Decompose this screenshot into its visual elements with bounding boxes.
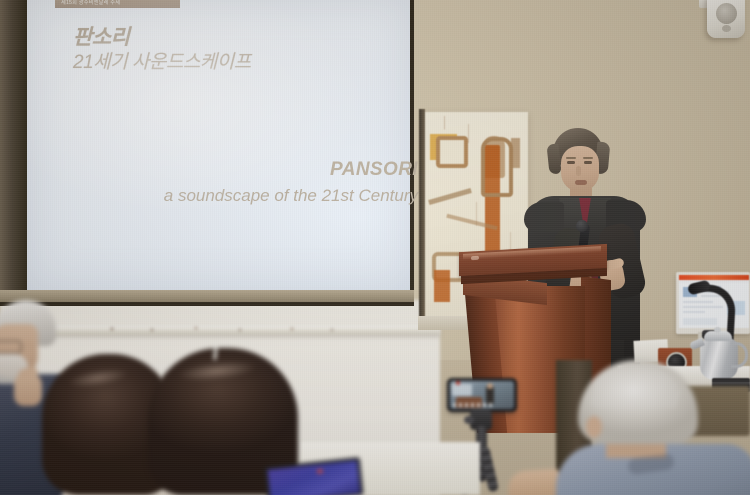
projection-screen: 제15회 광주비엔날레 주제 판소리 21세기 사운드스케이프 PANSORI … (26, 0, 410, 292)
slide-banner-label: 제15회 광주비엔날레 주제 (55, 0, 120, 6)
slide-banner: 제15회 광주비엔날레 주제 (55, 0, 180, 8)
smartphone-screen (450, 381, 514, 409)
speaker-tweeter (722, 25, 731, 32)
presenter-brow-left (566, 157, 576, 159)
projection-screen-frame: 제15회 광주비엔날레 주제 판소리 21세기 사운드스케이프 PANSORI … (0, 0, 414, 306)
monitor-subheader (679, 280, 749, 283)
screen-left-edge (0, 0, 27, 302)
audience-fg-hair-strands (590, 368, 680, 408)
glasses-icon (0, 340, 22, 354)
teapot-knob (714, 327, 721, 333)
lecture-photo: 제15회 광주비엔날레 주제 판소리 21세기 사운드스케이프 PANSORI … (0, 0, 750, 495)
phone-preview-head (487, 383, 493, 389)
audience-member-foreground (556, 360, 750, 495)
audience-left-ear (22, 340, 35, 357)
slide-english-title: PANSORI (56, 159, 418, 182)
presenter-brow-right (583, 157, 593, 159)
audience-fg-ear (586, 416, 602, 438)
presenter-shoulder-left (524, 202, 564, 232)
phone-preview-screen (452, 384, 472, 396)
speaker-driver (716, 3, 737, 24)
presenter-eye-right (584, 161, 592, 164)
slide-korean-heading: 판소리 21세기 사운드스케이프 (73, 26, 251, 73)
laptop-screen (267, 460, 360, 495)
phone-camera-ui (453, 403, 493, 407)
slide-english-heading: PANSORI a soundscape of the 21st Century (56, 159, 418, 206)
slide-korean-title: 판소리 (73, 26, 251, 50)
wall-rail-marks (100, 327, 360, 332)
presenter-eye-left (567, 161, 575, 164)
slide-korean-subtitle: 21세기 사운드스케이프 (73, 52, 251, 73)
smartphone (447, 378, 517, 412)
record-indicator-icon (456, 381, 460, 385)
tripod-knob (464, 416, 474, 424)
podium-mark (471, 256, 479, 260)
presenter-mouth (575, 180, 587, 185)
presenter-nose (576, 166, 581, 176)
wall-speaker-icon (707, 0, 745, 38)
slide-english-subtitle: a soundscape of the 21st Century (56, 186, 418, 206)
